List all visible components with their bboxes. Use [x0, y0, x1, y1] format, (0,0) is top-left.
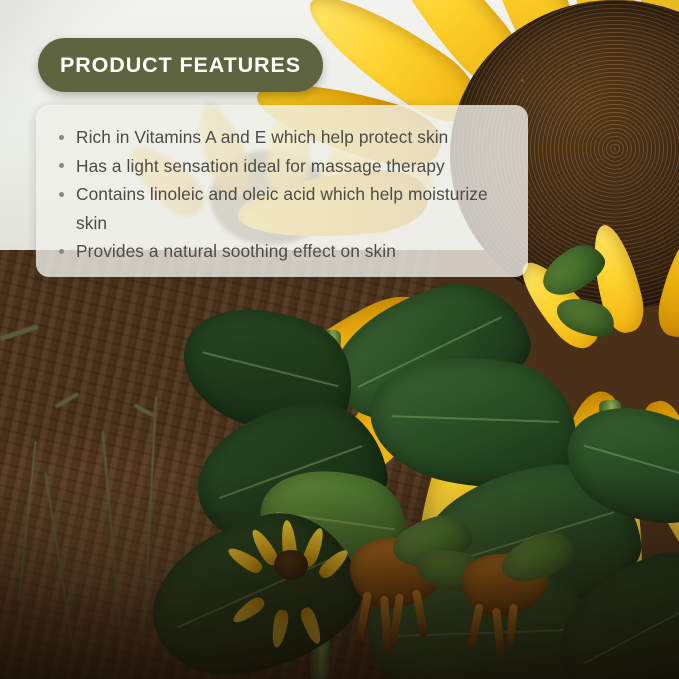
feature-item: Contains linoleic and oleic acid which h…	[56, 180, 508, 237]
bullet-icon	[59, 135, 64, 140]
feature-text: Contains linoleic and oleic acid which h…	[76, 184, 488, 233]
bullet-icon	[59, 192, 64, 197]
background-photo	[0, 0, 679, 679]
photo-vignette	[0, 0, 679, 679]
bullet-icon	[59, 249, 64, 254]
page-title: PRODUCT FEATURES	[60, 53, 301, 78]
features-list: Rich in Vitamins A and E which help prot…	[36, 105, 528, 266]
product-features-image: Rich in Vitamins A and E which help prot…	[0, 0, 679, 679]
feature-item: Rich in Vitamins A and E which help prot…	[56, 123, 508, 152]
feature-text: Provides a natural soothing effect on sk…	[76, 241, 396, 261]
feature-item: Provides a natural soothing effect on sk…	[56, 237, 508, 266]
product-features-header-pill: PRODUCT FEATURES	[38, 38, 323, 92]
features-card: Rich in Vitamins A and E which help prot…	[36, 105, 528, 277]
bullet-icon	[59, 163, 64, 168]
feature-text: Has a light sensation ideal for massage …	[76, 156, 445, 176]
feature-item: Has a light sensation ideal for massage …	[56, 152, 508, 181]
feature-text: Rich in Vitamins A and E which help prot…	[76, 127, 448, 147]
